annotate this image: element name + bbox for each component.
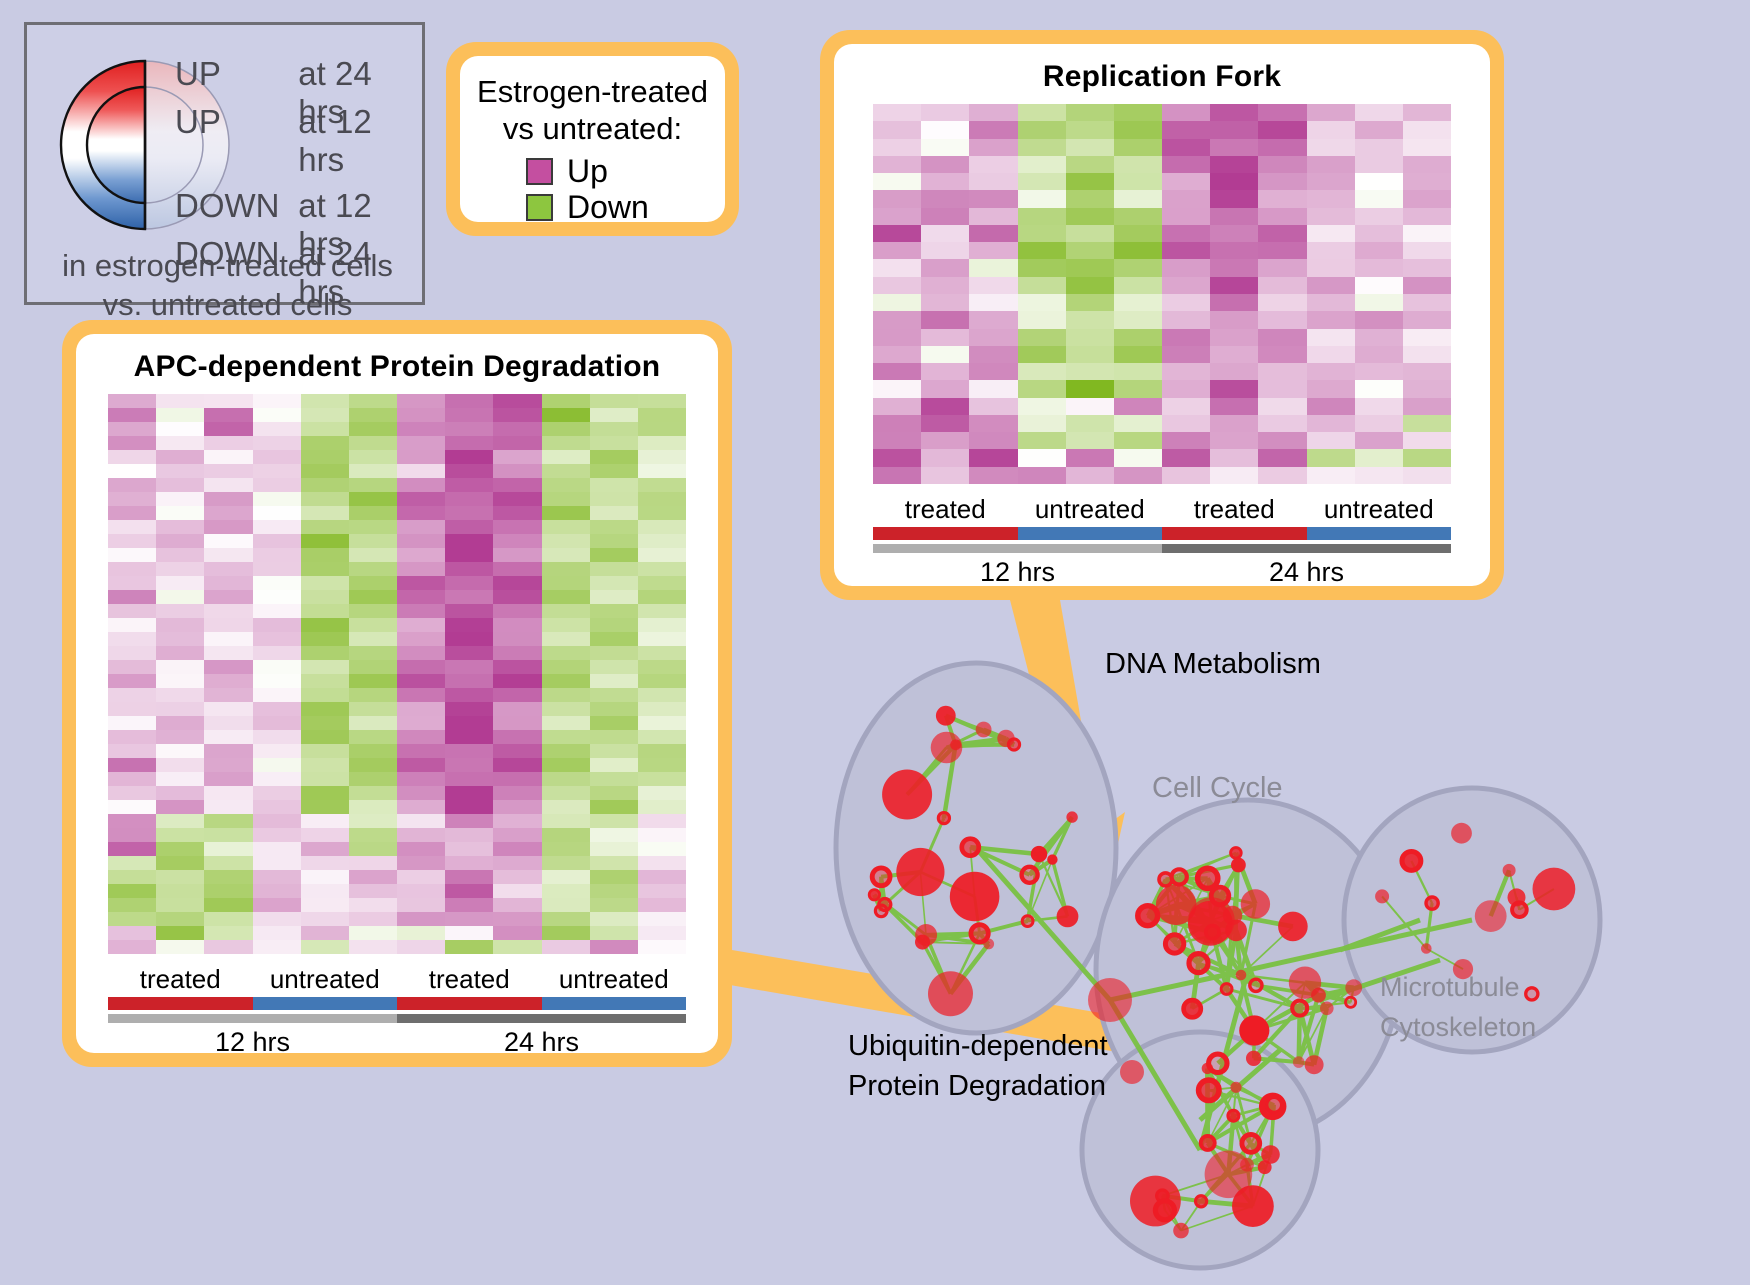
network-node[interactable] (896, 848, 944, 896)
network-node[interactable] (1311, 988, 1326, 1003)
network-node[interactable] (1240, 1158, 1254, 1172)
network-node[interactable] (1231, 858, 1246, 873)
network-node[interactable] (915, 935, 930, 950)
network-node[interactable] (1512, 902, 1527, 917)
network-node[interactable] (1047, 854, 1057, 864)
network-node[interactable] (1199, 1080, 1219, 1100)
network-node[interactable] (1196, 1196, 1207, 1207)
label-dna-metabolism: DNA Metabolism (1105, 648, 1321, 681)
network-node[interactable] (1228, 1110, 1239, 1121)
network-node[interactable] (1088, 978, 1132, 1022)
network-node[interactable] (983, 939, 994, 950)
network-node[interactable] (1250, 979, 1262, 991)
network-node[interactable] (1246, 1051, 1261, 1066)
network-node[interactable] (1159, 873, 1172, 886)
network-node[interactable] (879, 899, 891, 911)
network-node[interactable] (1346, 997, 1356, 1007)
network-node[interactable] (1138, 906, 1158, 926)
network-node[interactable] (1236, 970, 1247, 981)
network-node[interactable] (938, 813, 949, 824)
network-node[interactable] (1198, 868, 1218, 888)
network-node[interactable] (1031, 846, 1047, 862)
network-node[interactable] (1503, 864, 1516, 877)
network-node[interactable] (1008, 739, 1019, 750)
network-node[interactable] (936, 706, 956, 726)
network-node[interactable] (1475, 900, 1507, 932)
network-node[interactable] (1155, 1201, 1174, 1220)
network-node[interactable] (1225, 920, 1247, 942)
network-node[interactable] (1345, 979, 1362, 996)
network-node[interactable] (1201, 1136, 1215, 1150)
network-node[interactable] (1262, 1096, 1284, 1118)
network-node[interactable] (1173, 1223, 1189, 1239)
network-node[interactable] (1278, 912, 1308, 942)
network-node[interactable] (1165, 935, 1183, 953)
network-node[interactable] (1320, 1002, 1334, 1016)
network-node[interactable] (950, 739, 961, 750)
network-node[interactable] (976, 722, 992, 738)
pathway-network: DNA Metabolism Cell Cycle Microtubule Cy… (780, 620, 1740, 1280)
network-node[interactable] (1451, 823, 1472, 844)
network-node[interactable] (1057, 906, 1079, 928)
network-node[interactable] (1120, 1060, 1144, 1084)
label-microtubule: Microtubule (1380, 972, 1520, 1003)
network-node[interactable] (1205, 1151, 1253, 1199)
figure-stage: UP at 24 hrs UP at 12 hrs DOWN at 12 hrs… (0, 0, 1750, 1279)
network-node[interactable] (1261, 1145, 1280, 1164)
network-node[interactable] (1292, 1001, 1307, 1016)
network-node[interactable] (1221, 984, 1232, 995)
network-node[interactable] (1172, 869, 1187, 884)
network-node[interactable] (882, 770, 932, 820)
network-node[interactable] (1066, 811, 1077, 822)
network-node[interactable] (1211, 887, 1229, 905)
network-node[interactable] (1189, 954, 1208, 973)
label-ubiquitin-line-2: Protein Degradation (848, 1070, 1106, 1103)
network-node[interactable] (872, 868, 890, 886)
network-node[interactable] (869, 890, 879, 900)
network-node[interactable] (1206, 926, 1219, 939)
network-node[interactable] (1241, 889, 1270, 918)
network-node[interactable] (1293, 1056, 1305, 1068)
network-node[interactable] (1305, 1055, 1324, 1074)
network-node[interactable] (1421, 943, 1432, 954)
network-node[interactable] (1239, 1015, 1269, 1045)
network-node[interactable] (1402, 852, 1421, 871)
network-node[interactable] (1184, 1000, 1201, 1017)
network-node[interactable] (1375, 889, 1389, 903)
network-node[interactable] (928, 971, 973, 1016)
network-svg (780, 620, 1740, 1280)
label-ubiquitin-line-1: Ubiquitin-dependent (848, 1030, 1108, 1063)
network-node[interactable] (1533, 868, 1576, 911)
network-node[interactable] (1426, 897, 1438, 909)
network-node[interactable] (1526, 988, 1538, 1000)
label-cytoskeleton: Cytoskeleton (1380, 1012, 1536, 1043)
network-node[interactable] (1231, 848, 1242, 859)
network-node[interactable] (1202, 1063, 1213, 1074)
network-node[interactable] (1022, 867, 1038, 883)
network-node[interactable] (1022, 916, 1033, 927)
network-node[interactable] (1242, 1135, 1260, 1153)
label-cell-cycle: Cell Cycle (1152, 772, 1283, 805)
network-node[interactable] (962, 839, 979, 856)
network-node[interactable] (950, 872, 1000, 922)
network-node[interactable] (1230, 1082, 1241, 1093)
